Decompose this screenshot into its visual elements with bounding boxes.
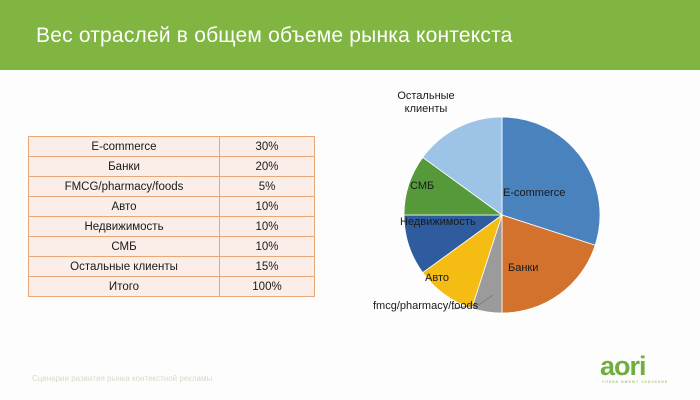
pie-label-smb: СМБ: [410, 180, 434, 193]
table-row: FMCG/pharmacy/foods 5%: [29, 177, 315, 197]
pie-label-avto: Авто: [425, 272, 449, 285]
title-banner: Вес отраслей в общем объеме рынка контек…: [0, 0, 700, 70]
table-row: Авто 10%: [29, 197, 315, 217]
table-cell-value: 100%: [220, 277, 315, 297]
brand-tagline: слова имеют значение: [602, 379, 668, 384]
table-row: Недвижимость 10%: [29, 217, 315, 237]
brand-wordmark: aori: [600, 352, 646, 380]
table-cell-value: 5%: [220, 177, 315, 197]
pie-label-ostalnye-klienty: Остальные клиенты: [384, 90, 468, 116]
table-cell-value: 20%: [220, 157, 315, 177]
table-cell-label: Авто: [29, 197, 220, 217]
table-cell-label: Итого: [29, 277, 220, 297]
industry-share-table: E-commerce 30% Банки 20% FMCG/pharmacy/f…: [28, 136, 315, 297]
table-cell-label: FMCG/pharmacy/foods: [29, 177, 220, 197]
table-cell-value: 15%: [220, 257, 315, 277]
pie-label-nedvizhimost: Недвижимость: [400, 216, 466, 229]
table-cell-value: 10%: [220, 197, 315, 217]
table-body: E-commerce 30% Банки 20% FMCG/pharmacy/f…: [29, 137, 315, 297]
presentation-slide: Вес отраслей в общем объеме рынка контек…: [0, 0, 700, 400]
table-row: Остальные клиенты 15%: [29, 257, 315, 277]
table-row: E-commerce 30%: [29, 137, 315, 157]
table-cell-value: 10%: [220, 217, 315, 237]
table-cell-value: 10%: [220, 237, 315, 257]
pie-label-banki: Банки: [508, 262, 538, 275]
table-cell-label: СМБ: [29, 237, 220, 257]
table-cell-label: Банки: [29, 157, 220, 177]
table-row: СМБ 10%: [29, 237, 315, 257]
table-cell-label: Недвижимость: [29, 217, 220, 237]
table-row: Банки 20%: [29, 157, 315, 177]
table-row-total: Итого 100%: [29, 277, 315, 297]
page-title: Вес отраслей в общем объеме рынка контек…: [36, 24, 513, 48]
table-cell-label: Остальные клиенты: [29, 257, 220, 277]
aori-logo: aori слова имеют значение: [600, 352, 684, 392]
table-cell-value: 30%: [220, 137, 315, 157]
table-cell-label: E-commerce: [29, 137, 220, 157]
pie-chart: E-commerce Банки fmcg/pharmacy/foods Авт…: [360, 80, 660, 350]
pie-label-fmcg: fmcg/pharmacy/foods: [373, 300, 451, 313]
pie-label-ecommerce: E-commerce: [503, 187, 565, 200]
footer-caption: Сценарии развития рынка контекстной рекл…: [32, 374, 212, 383]
